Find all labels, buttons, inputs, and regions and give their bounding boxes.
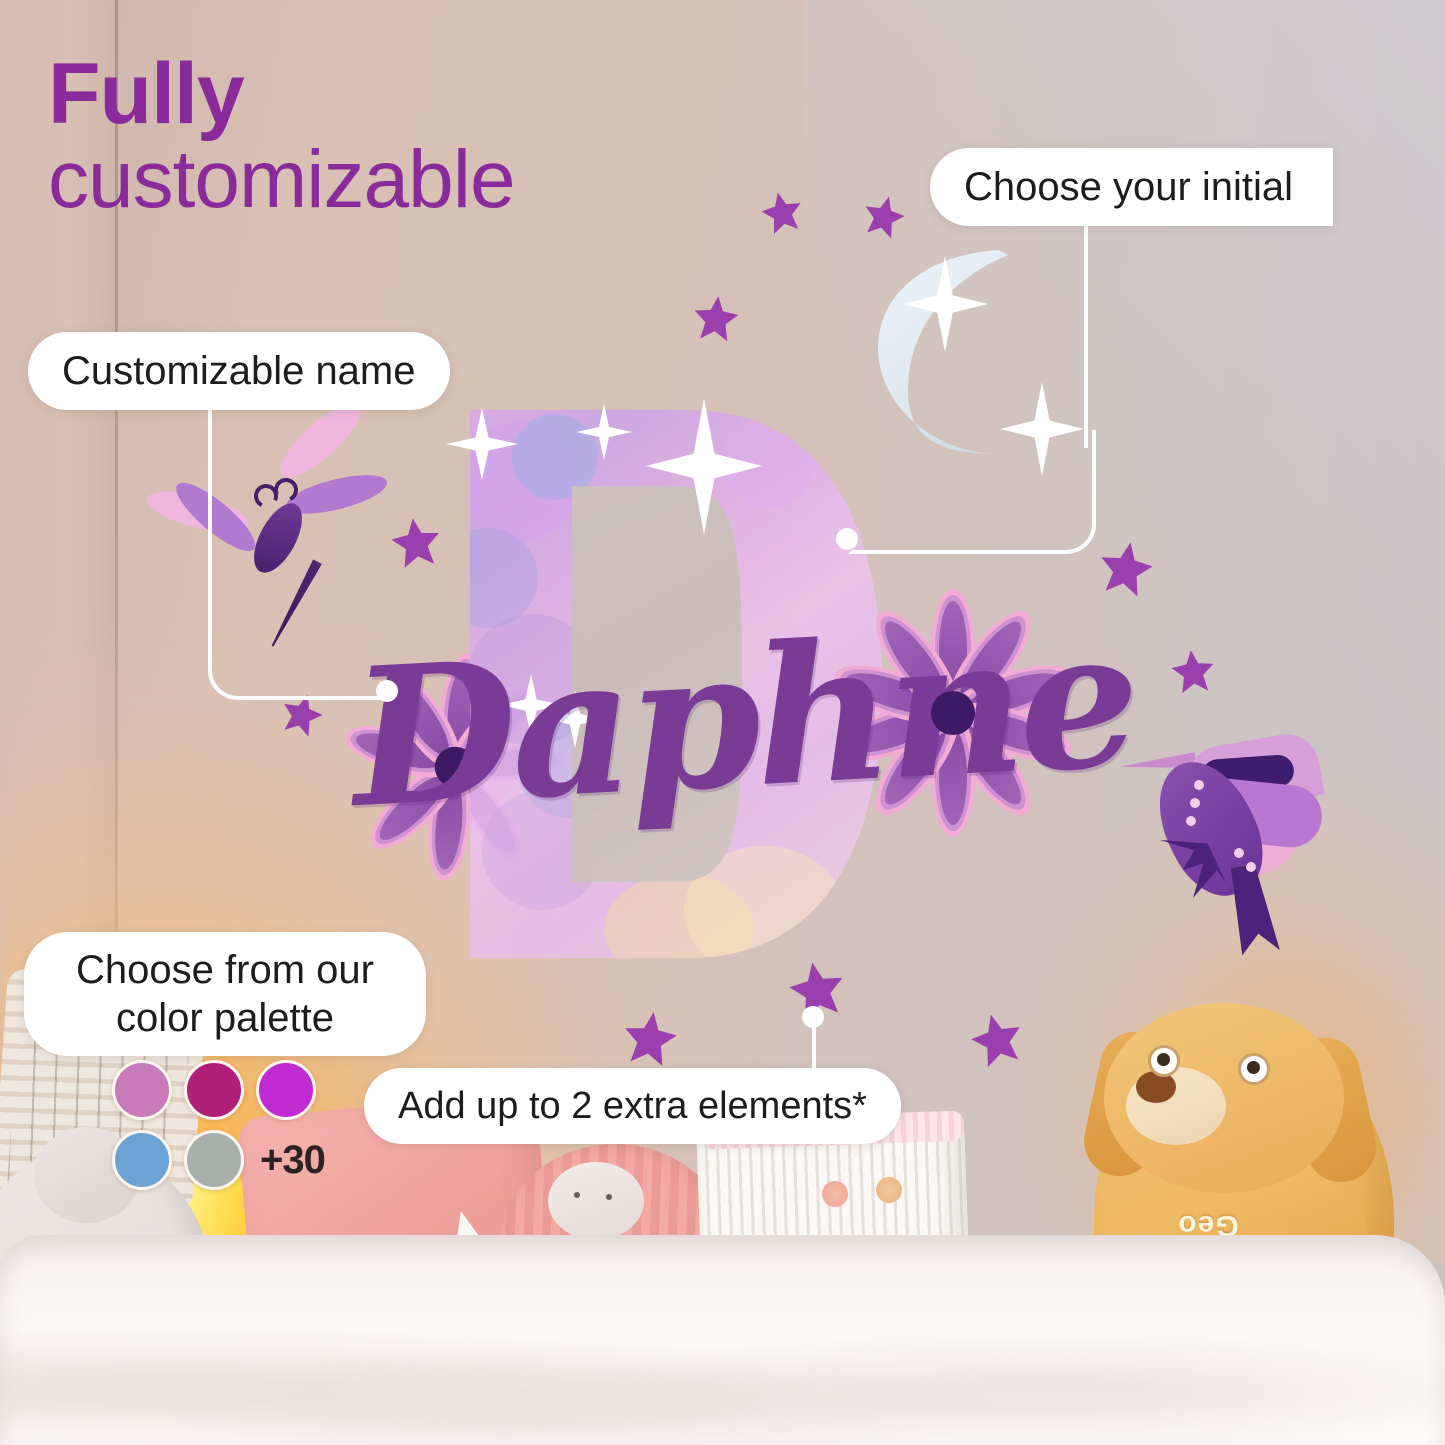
- moon-crater: [1000, 310, 1006, 316]
- connector-elbow-initial: [848, 430, 1096, 554]
- bubble: [452, 528, 538, 628]
- moon-crater: [984, 396, 991, 403]
- name-script-text: Daphne: [347, 612, 976, 834]
- connector-dot-initial: [836, 528, 858, 550]
- swatch-mauve-pink[interactable]: [112, 1060, 172, 1120]
- doll-eye-left: [574, 1192, 580, 1198]
- callout-extra-elements: Add up to 2 extra elements*: [364, 1068, 901, 1144]
- swatch-bright-purple[interactable]: [256, 1060, 316, 1120]
- hummingbird-dot: [1194, 780, 1204, 790]
- callout-palette-line-1: Choose from our: [50, 946, 400, 994]
- callout-choose-initial: Choose your initial: [930, 148, 1333, 226]
- callout-palette-line-2: color palette: [50, 994, 400, 1042]
- product-lifestyle-image: ame Geo: [0, 0, 1445, 1445]
- pillow-cheek-right: [876, 1177, 902, 1203]
- palette-more-count: +30: [260, 1138, 325, 1183]
- doll-eye-right: [606, 1194, 612, 1200]
- moon-crater: [990, 330, 997, 337]
- hummingbird-dot: [1186, 816, 1196, 826]
- connector-elbow-name: [208, 396, 392, 700]
- palette-row-2: +30: [112, 1130, 352, 1190]
- hummingbird-icon: [1116, 736, 1326, 946]
- page-title: Fully customizable: [48, 52, 515, 222]
- swatch-grey[interactable]: [184, 1130, 244, 1190]
- connector-dot-name: [376, 680, 398, 702]
- callout-customizable-name: Customizable name: [28, 332, 450, 410]
- plush-dog-eye-left: [1148, 1045, 1180, 1077]
- doll-head: [548, 1162, 644, 1240]
- swatch-magenta[interactable]: [184, 1060, 244, 1120]
- connector-line-initial: [1084, 218, 1088, 448]
- moon-crater: [982, 288, 991, 297]
- hummingbird-dot: [1190, 798, 1200, 808]
- moon-crater: [958, 420, 964, 426]
- hummingbird-dot: [1234, 848, 1244, 858]
- moon-crater: [930, 406, 938, 414]
- headline-line-1: Fully: [48, 52, 515, 136]
- hummingbird-dot: [1246, 862, 1256, 872]
- plush-dog-eye-right: [1238, 1053, 1270, 1085]
- headline-line-2: customizable: [48, 138, 515, 222]
- bed-folds: [0, 1265, 1445, 1445]
- swatch-sky-blue[interactable]: [112, 1130, 172, 1190]
- flower-center: [931, 691, 975, 735]
- connector-dot-elements: [802, 1006, 824, 1028]
- callout-color-palette: Choose from our color palette: [24, 932, 426, 1056]
- pillow-cheek-left: [822, 1181, 848, 1207]
- palette-row-1: [112, 1060, 352, 1120]
- color-palette-swatches[interactable]: +30: [112, 1060, 352, 1200]
